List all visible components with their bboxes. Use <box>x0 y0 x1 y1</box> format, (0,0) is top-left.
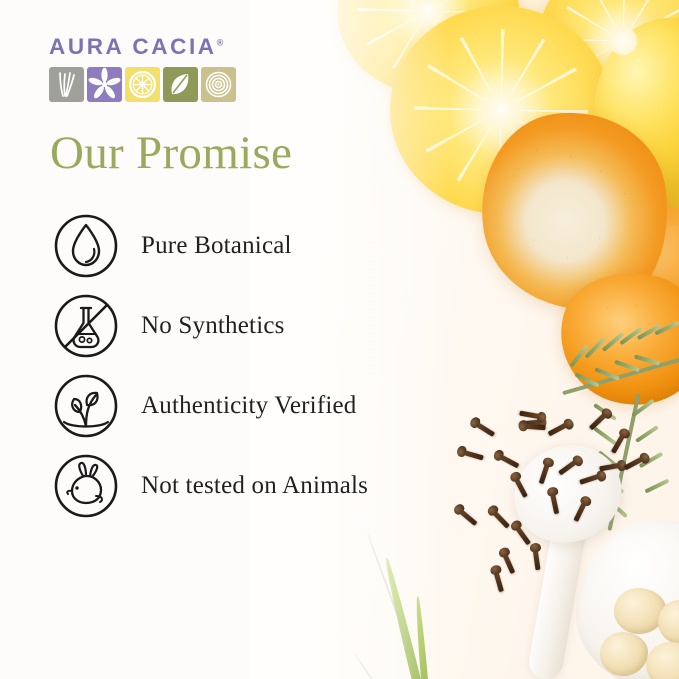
list-item: Pure Botanical <box>52 206 452 286</box>
roots-icon <box>49 67 84 102</box>
sprouting-plant-icon <box>52 372 120 440</box>
citrus-slice-icon <box>125 67 160 102</box>
registered-trademark-icon: ® <box>217 38 224 48</box>
promise-label: No Synthetics <box>141 312 285 340</box>
flower-icon <box>87 67 122 102</box>
rings-icon <box>201 67 236 102</box>
brand-name-text: AURA CACIA <box>49 34 217 59</box>
promise-poster: AURA CACIA® <box>0 0 679 679</box>
promise-list: Pure Botanical No Synthetics <box>52 206 452 526</box>
list-item: No Synthetics <box>52 286 452 366</box>
promise-label: Pure Botanical <box>141 232 292 260</box>
brand-wordmark: AURA CACIA® <box>49 36 249 59</box>
no-flask-icon <box>52 292 120 360</box>
rabbit-icon <box>52 452 120 520</box>
promise-label: Not tested on Animals <box>141 472 368 500</box>
brand-logo[interactable]: AURA CACIA® <box>49 36 249 102</box>
leaf-icon <box>163 67 198 102</box>
page-title: Our Promise <box>50 128 292 180</box>
content-panel: AURA CACIA® <box>0 0 470 679</box>
water-droplet-icon <box>52 212 120 280</box>
list-item: Authenticity Verified <box>52 366 452 446</box>
promise-label: Authenticity Verified <box>141 392 357 420</box>
clove-icon <box>523 424 545 431</box>
list-item: Not tested on Animals <box>52 446 452 526</box>
brand-tile-strip <box>49 67 249 102</box>
